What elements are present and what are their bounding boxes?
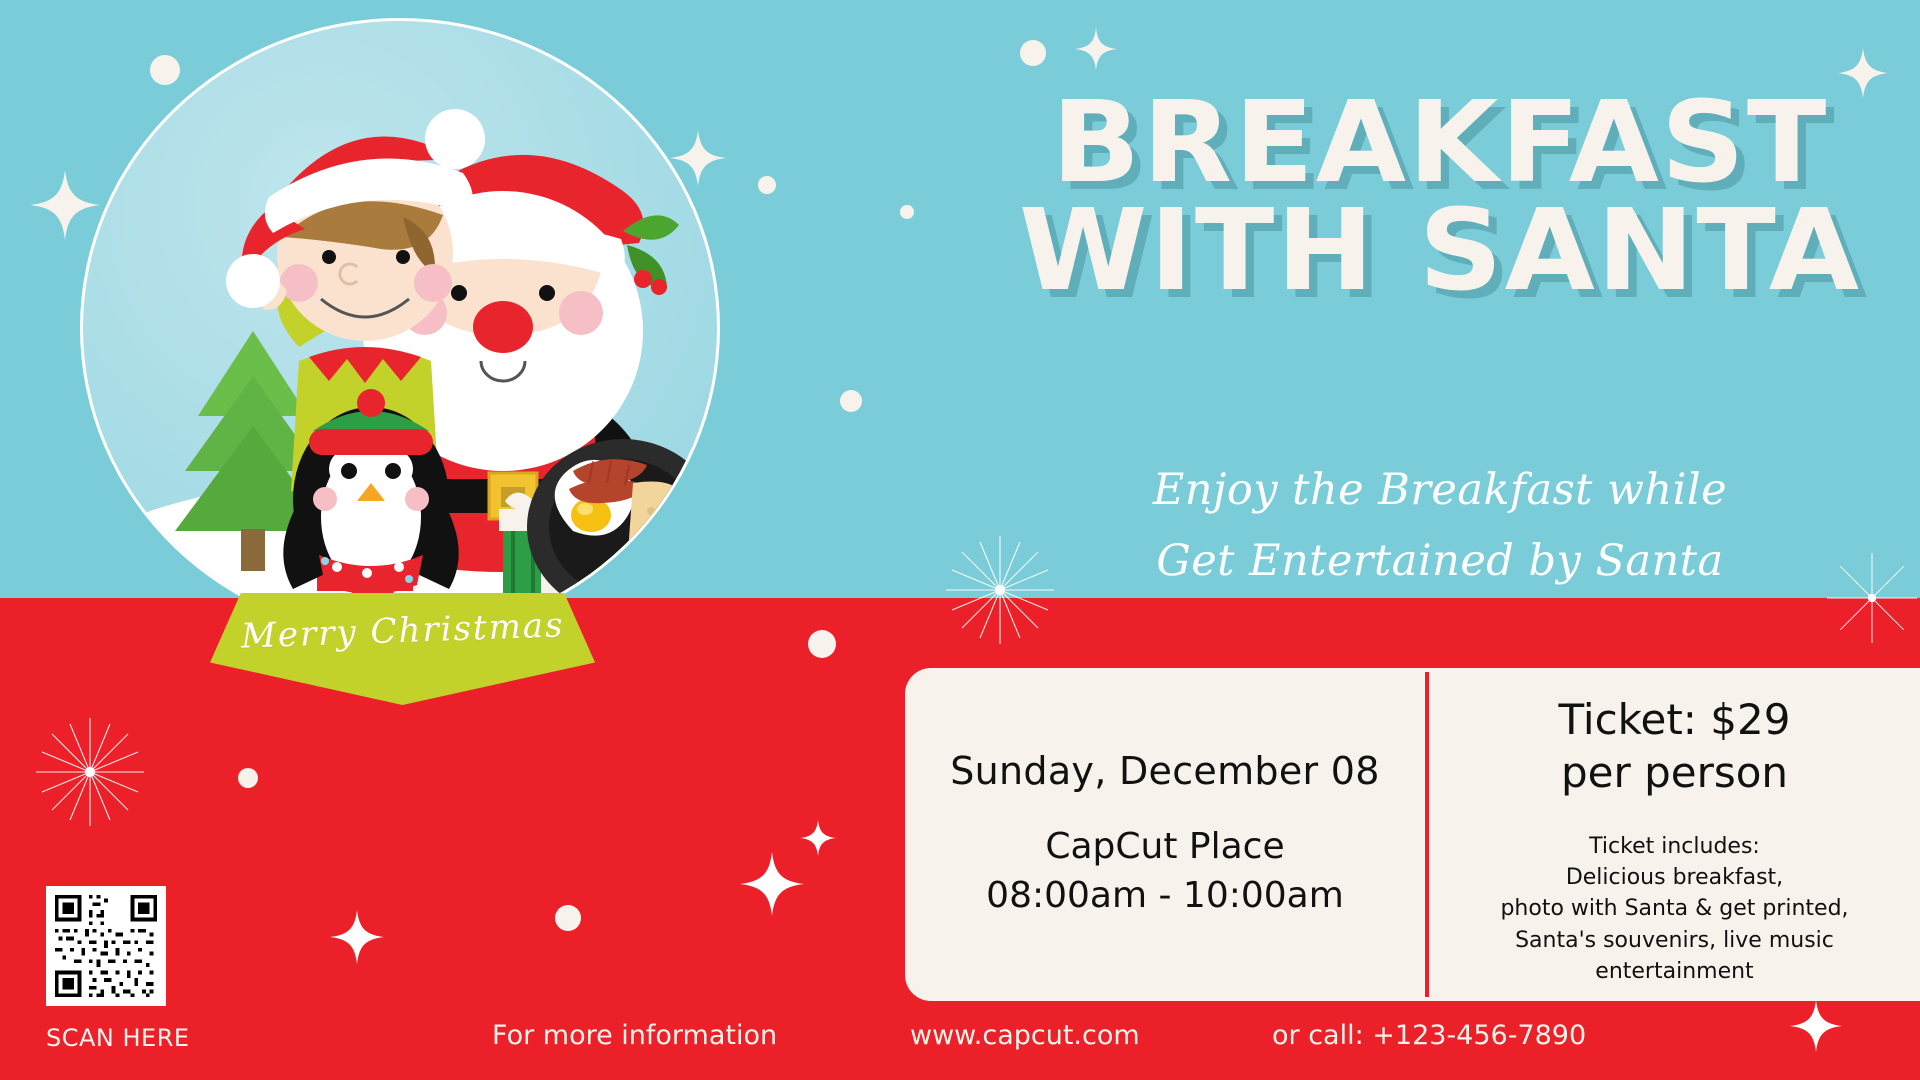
snow-dot — [900, 205, 914, 219]
info-cards: Sunday, December 08 CapCut Place 08:00am… — [905, 668, 1920, 1001]
snow-dot — [840, 390, 862, 412]
ticket-includes: Ticket includes: Delicious breakfast, ph… — [1500, 831, 1848, 987]
breakfast-pan-icon — [527, 439, 720, 615]
subtitle-line-2: Get Entertained by Santa — [1010, 526, 1870, 597]
ticket-includes-line: entertainment — [1500, 956, 1848, 987]
globe-base: Merry Christmas — [210, 593, 595, 705]
event-details-card: Sunday, December 08 CapCut Place 08:00am… — [905, 668, 1425, 1001]
event-venue-time: CapCut Place 08:00am - 10:00am — [986, 823, 1344, 920]
firework-burst-icon — [30, 712, 150, 837]
event-venue: CapCut Place — [986, 823, 1344, 872]
merry-christmas-text: Merry Christmas — [240, 605, 565, 656]
snow-dot — [555, 905, 581, 931]
snow-dot — [1020, 40, 1046, 66]
sparkle-star-icon — [800, 820, 836, 856]
subtitle-line-1: Enjoy the Breakfast while — [1010, 455, 1870, 526]
ticket-price-line-1: Ticket: $29 — [1559, 694, 1791, 747]
qr-code[interactable] — [46, 886, 166, 1006]
title-line-2: WITH SANTA — [1014, 198, 1867, 306]
sparkle-star-icon — [330, 910, 384, 964]
snow-globe-illustration: Merry Christmas — [60, 8, 740, 708]
snow-dot — [238, 768, 258, 788]
snow-dot — [758, 176, 776, 194]
event-date: Sunday, December 08 — [950, 749, 1380, 793]
ticket-includes-heading: Ticket includes: — [1500, 831, 1848, 862]
title-line-1: BREAKFAST — [1014, 90, 1867, 198]
sparkle-star-icon — [1075, 28, 1117, 70]
ticket-price: Ticket: $29 per person — [1559, 694, 1791, 799]
ticket-card: Ticket: $29 per person Ticket includes: … — [1429, 668, 1920, 1001]
phone-number[interactable]: or call: +123-456-7890 — [1272, 1020, 1586, 1051]
footer-bar: SCAN HERE For more information www.capcu… — [0, 1020, 1920, 1064]
ticket-price-line-2: per person — [1559, 747, 1791, 800]
sparkle-star-icon — [740, 852, 804, 916]
snow-dot — [808, 630, 836, 658]
ticket-includes-line: Delicious breakfast, — [1500, 862, 1848, 893]
website-link[interactable]: www.capcut.com — [910, 1020, 1140, 1051]
globe-characters — [103, 31, 720, 638]
globe-glass — [80, 18, 720, 638]
ticket-includes-line: photo with Santa & get printed, — [1500, 893, 1848, 924]
event-time: 08:00am - 10:00am — [986, 872, 1344, 921]
hero-title: BREAKFAST WITH SANTA — [1030, 90, 1850, 305]
ticket-includes-line: Santa's souvenirs, live music — [1500, 925, 1848, 956]
scan-here-label: SCAN HERE — [46, 1024, 190, 1052]
flyer-canvas: Merry Christmas BREAKFAST WITH SANTA Enj… — [0, 0, 1920, 1080]
hero-subtitle: Enjoy the Breakfast while Get Entertaine… — [1010, 455, 1870, 597]
more-information-label: For more information — [492, 1020, 777, 1051]
